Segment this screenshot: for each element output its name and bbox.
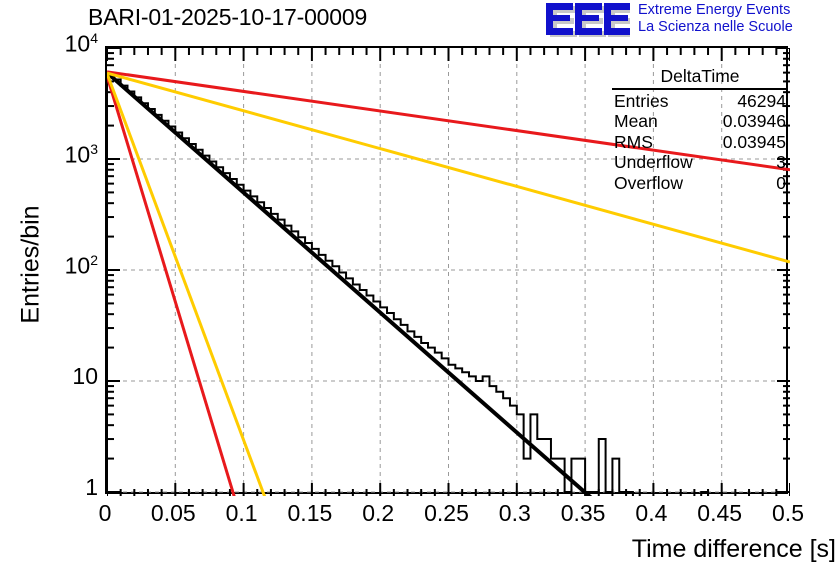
stats-rows: Entries46294Mean0.03946RMS0.03945Underfl… [612,91,788,194]
x-tick-label-5: 0.25 [424,500,469,527]
x-axis-tick-labels: 00.050.10.150.20.250.30.350.40.450.5 [0,500,836,530]
x-tick-label-0: 0 [99,500,112,527]
stats-key: Overflow [612,173,683,194]
eee-logo-line2: La Scienza nelle Scuole [638,19,793,36]
x-tick-label-1: 0.05 [151,500,196,527]
x-tick-label-3: 0.15 [288,500,333,527]
stats-key: Entries [612,91,668,112]
page-title: BARI-01-2025-10-17-00009 [88,4,367,31]
x-tick-label-9: 0.45 [697,500,742,527]
stats-row-underflow: Underflow3 [612,152,788,173]
stats-value: 0 [776,173,788,194]
stats-title-rule [612,88,788,90]
y-axis-tick-labels: 104103102101 [0,0,98,572]
stats-row-overflow: Overflow0 [612,173,788,194]
stats-key: Underflow [612,152,693,173]
y-tick-label-3: 10 [72,363,98,390]
x-tick-label-2: 0.1 [226,500,258,527]
y-axis-title: Entries/bin [17,150,46,380]
stats-title: DeltaTime [612,66,788,88]
x-axis-title: Time difference [s] [632,535,836,564]
stats-value: 0.03945 [723,132,788,153]
stats-value: 46294 [737,91,788,112]
x-tick-label-4: 0.2 [362,500,394,527]
stats-key: RMS [612,132,653,153]
stats-row-entries: Entries46294 [612,91,788,112]
stats-value: 0.03946 [723,111,788,132]
x-tick-label-8: 0.4 [635,500,667,527]
x-tick-label-10: 0.5 [772,500,804,527]
y-tick-label-1: 103 [65,141,98,169]
stats-row-mean: Mean0.03946 [612,111,788,132]
stats-key: Mean [612,111,658,132]
y-tick-label-2: 102 [65,252,98,280]
x-tick-label-6: 0.3 [499,500,531,527]
eee-logo-line1: Extreme Energy Events [638,2,793,19]
eee-logo-mark [546,3,630,37]
x-tick-label-7: 0.35 [561,500,606,527]
y-tick-label-4: 1 [85,474,98,501]
stats-box: DeltaTime Entries46294Mean0.03946RMS0.03… [612,66,788,193]
stats-row-rms: RMS0.03945 [612,132,788,153]
eee-logo: Extreme Energy Events La Scienza nelle S… [546,2,836,38]
y-tick-label-0: 104 [65,30,98,58]
eee-logo-text: Extreme Energy Events La Scienza nelle S… [638,2,793,36]
stats-value: 3 [776,152,788,173]
